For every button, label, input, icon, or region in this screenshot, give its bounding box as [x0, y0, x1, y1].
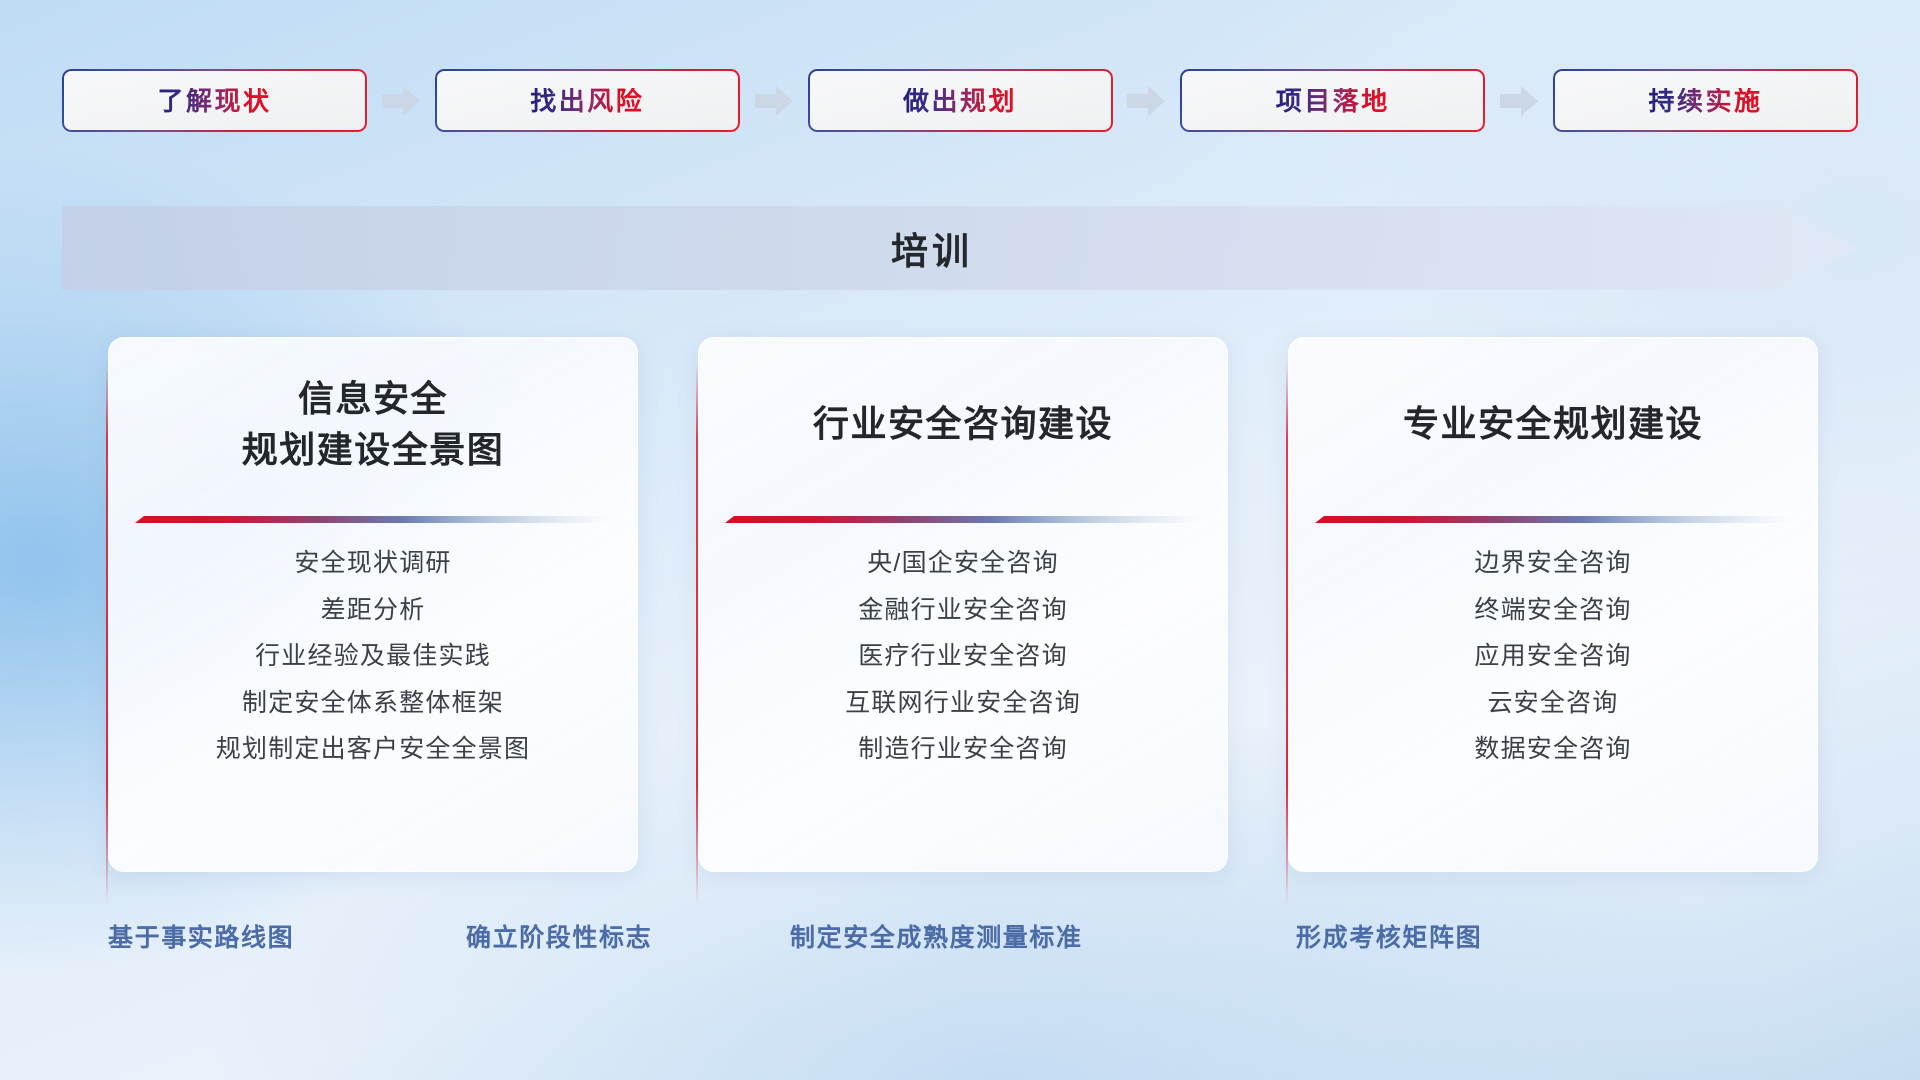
flow-step-5[interactable]: 持续实施 — [1553, 69, 1858, 132]
training-band-label: 培训 — [62, 206, 1802, 290]
flow-step-label: 做出规划 — [903, 88, 1017, 114]
flow-step-label: 持续实施 — [1648, 88, 1762, 114]
flow-step-label: 项目落地 — [1276, 88, 1390, 114]
bottom-label: 确立阶段性标志 — [466, 912, 652, 964]
flow-step-label: 找出风险 — [530, 88, 644, 114]
list-item: 终端安全咨询 — [1474, 593, 1631, 629]
card-title-line: 专业安全规划建设 — [1403, 402, 1703, 446]
gradient-divider-icon — [725, 514, 1203, 528]
list-item: 应用安全咨询 — [1474, 639, 1631, 675]
list-item: 互联网行业安全咨询 — [845, 686, 1081, 722]
right-block-arrow-icon — [382, 84, 420, 118]
list-item: 数据安全咨询 — [1474, 732, 1631, 768]
card-industry-security-consulting[interactable]: 行业安全咨询建设 央/国企安全咨询 金融行业安全咨询 — [698, 337, 1228, 872]
gradient-divider-icon — [1315, 514, 1793, 528]
card-list: 央/国企安全咨询 金融行业安全咨询 医疗行业安全咨询 互联网行业安全咨询 制造行… — [699, 546, 1227, 768]
card-title: 专业安全规划建设 — [1289, 338, 1817, 510]
list-item: 边界安全咨询 — [1474, 546, 1631, 582]
flow-step-1[interactable]: 了解现状 — [62, 69, 367, 132]
card-information-security-blueprint[interactable]: 信息安全 规划建设全景图 安全现状调研 差 — [108, 337, 638, 872]
list-item: 央/国企安全咨询 — [867, 546, 1059, 582]
card-title-line: 信息安全 — [298, 377, 448, 421]
slide-canvas: 了解现状 找出风险 做出规划 项目落地 持续实施 — [0, 0, 1920, 1080]
list-item: 制定安全体系整体框架 — [242, 686, 504, 722]
training-band: 培训 — [62, 206, 1858, 290]
cards-row: 信息安全 规划建设全景图 安全现状调研 差 — [108, 337, 1818, 872]
bottom-label: 制定安全成熟度测量标准 — [790, 912, 1083, 964]
right-block-arrow-icon — [755, 84, 793, 118]
right-block-arrow-icon — [1127, 84, 1165, 118]
flow-step-2[interactable]: 找出风险 — [435, 69, 740, 132]
list-item: 医疗行业安全咨询 — [858, 639, 1068, 675]
list-item: 云安全咨询 — [1487, 686, 1618, 722]
list-item: 安全现状调研 — [294, 546, 451, 582]
flow-step-3[interactable]: 做出规划 — [808, 69, 1113, 132]
list-item: 行业经验及最佳实践 — [255, 639, 491, 675]
gradient-divider-icon — [135, 514, 613, 528]
card-title-line: 规划建设全景图 — [242, 428, 505, 472]
bottom-label: 基于事实路线图 — [108, 912, 294, 964]
list-item: 规划制定出客户安全全景图 — [216, 732, 530, 768]
bottom-labels-row: 基于事实路线图 确立阶段性标志 制定安全成熟度测量标准 形成考核矩阵图 — [0, 912, 1920, 964]
card-professional-security-planning[interactable]: 专业安全规划建设 边界安全咨询 终端安全咨询 — [1288, 337, 1818, 872]
right-block-arrow-icon — [1500, 84, 1538, 118]
list-item: 金融行业安全咨询 — [858, 593, 1068, 629]
card-title-line: 行业安全咨询建设 — [813, 402, 1113, 446]
bottom-label: 形成考核矩阵图 — [1296, 912, 1482, 964]
list-item: 制造行业安全咨询 — [858, 732, 1068, 768]
flow-step-4[interactable]: 项目落地 — [1180, 69, 1485, 132]
card-title: 信息安全 规划建设全景图 — [109, 338, 637, 510]
card-list: 边界安全咨询 终端安全咨询 应用安全咨询 云安全咨询 数据安全咨询 — [1289, 546, 1817, 768]
process-flow-row: 了解现状 找出风险 做出规划 项目落地 持续实施 — [62, 68, 1858, 133]
card-list: 安全现状调研 差距分析 行业经验及最佳实践 制定安全体系整体框架 规划制定出客户… — [109, 546, 637, 768]
list-item: 差距分析 — [321, 593, 426, 629]
card-title: 行业安全咨询建设 — [699, 338, 1227, 510]
flow-step-label: 了解现状 — [157, 88, 271, 114]
